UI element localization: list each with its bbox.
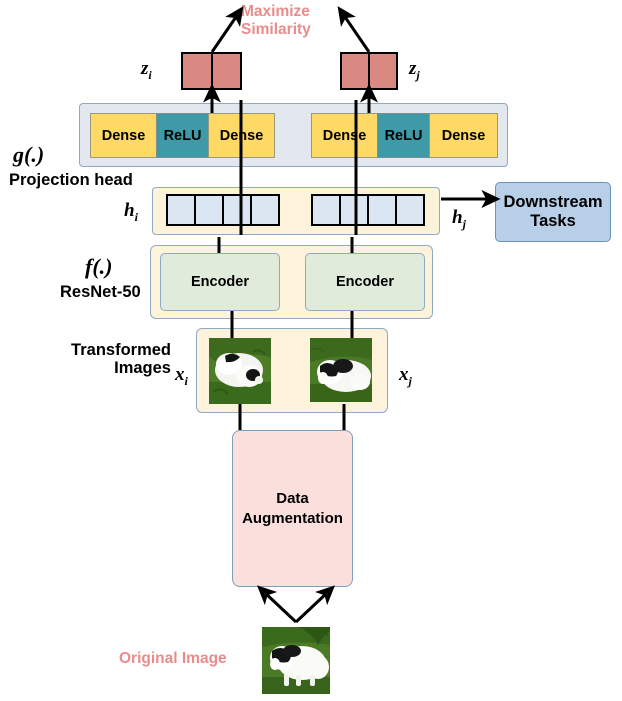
relu-layer-j[interactable]: ReLU (377, 113, 430, 158)
data-augmentation-box[interactable]: Data Augmentation (232, 430, 353, 587)
h-j-cell-4 (395, 194, 425, 226)
transformed-images-line2: Images (53, 359, 171, 377)
arrow-original-to-aug-right (296, 592, 328, 622)
projection-head-function-symbol: g(.) (13, 142, 44, 168)
x-i-label: xi (175, 364, 188, 389)
transformed-images-line1: Transformed (53, 341, 171, 359)
augmentation-line1: Data (242, 489, 343, 509)
relu-layer-i[interactable]: ReLU (156, 113, 209, 158)
h-i-cell-1 (166, 194, 196, 226)
h-i-label: hi (124, 200, 138, 225)
diagram-canvas: Maximize Similarity zi zj Dense ReLU Den… (0, 0, 622, 701)
h-i-cell-3 (222, 194, 252, 226)
h-vector-i (166, 194, 280, 226)
h-j-label: hj (452, 207, 466, 232)
z-j-label: zj (409, 58, 420, 83)
original-image-label: Original Image (119, 650, 227, 668)
arrow-original-to-aug-left (264, 592, 296, 622)
h-j-cell-1 (311, 194, 341, 226)
h-j-cell-3 (367, 194, 397, 226)
downstream-line2: Tasks (503, 212, 602, 231)
transformed-image-i (209, 338, 271, 404)
downstream-line1: Downstream (503, 193, 602, 212)
arrow-zi-to-objective (212, 14, 238, 52)
encoder-block-i[interactable]: Encoder (160, 253, 280, 311)
transformed-images-label: Transformed Images (53, 341, 171, 378)
dense-layer-j-1[interactable]: Dense (311, 113, 378, 158)
dense-layer-i-1[interactable]: Dense (90, 113, 157, 158)
z-i-label: zi (141, 58, 152, 83)
augmentation-line2: Augmentation (242, 509, 343, 529)
maximize-similarity-line1: Maximize (241, 3, 311, 21)
h-i-cell-2 (194, 194, 224, 226)
h-i-cell-4 (250, 194, 280, 226)
h-vector-j (311, 194, 425, 226)
downstream-tasks-box[interactable]: Downstream Tasks (495, 182, 611, 242)
h-j-cell-2 (339, 194, 369, 226)
arrow-zj-to-objective (343, 14, 369, 52)
transformed-image-j (310, 338, 372, 402)
dense-layer-i-2[interactable]: Dense (208, 113, 275, 158)
z-vector-j (340, 52, 398, 90)
z-vector-i (181, 52, 242, 90)
encoder-block-j[interactable]: Encoder (305, 253, 425, 311)
maximize-similarity-label: Maximize Similarity (241, 3, 311, 39)
maximize-similarity-line2: Similarity (241, 21, 311, 39)
x-j-label: xj (399, 364, 412, 389)
encoder-function-symbol: f(.) (85, 254, 112, 280)
dense-layer-j-2[interactable]: Dense (429, 113, 498, 158)
encoder-name: ResNet-50 (60, 283, 141, 301)
original-image (262, 627, 330, 694)
projection-head-name: Projection head (9, 171, 133, 189)
